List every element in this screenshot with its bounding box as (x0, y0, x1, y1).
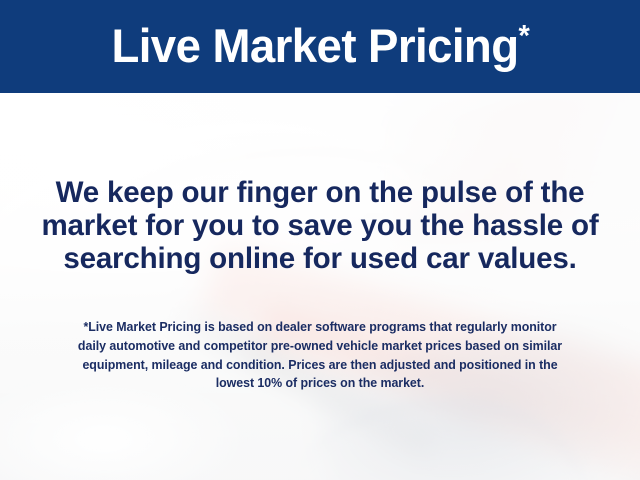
headline-line-3: searching online for used car values. (5, 242, 635, 275)
disclaimer-line-1: *Live Market Pricing is based on dealer … (30, 318, 609, 337)
headline-block: We keep our finger on the pulse of the m… (0, 176, 640, 275)
page-title: Live Market Pricing* (111, 22, 529, 69)
header-band: Live Market Pricing* (0, 0, 640, 93)
headline-line-2: market for you to save you the hassle of (5, 209, 635, 242)
live-market-pricing-banner: Live Market Pricing* We keep our finger … (0, 0, 640, 480)
disclaimer-line-4: lowest 10% of prices on the market. (30, 374, 609, 393)
disclaimer-line-2: daily automotive and competitor pre-owne… (30, 337, 609, 356)
page-title-asterisk: * (518, 19, 529, 52)
disclaimer-line-3: equipment, mileage and condition. Prices… (30, 356, 609, 375)
headline-line-1: We keep our finger on the pulse of the (5, 176, 635, 209)
disclaimer-block: *Live Market Pricing is based on dealer … (26, 318, 614, 393)
page-title-text: Live Market Pricing (111, 19, 518, 72)
